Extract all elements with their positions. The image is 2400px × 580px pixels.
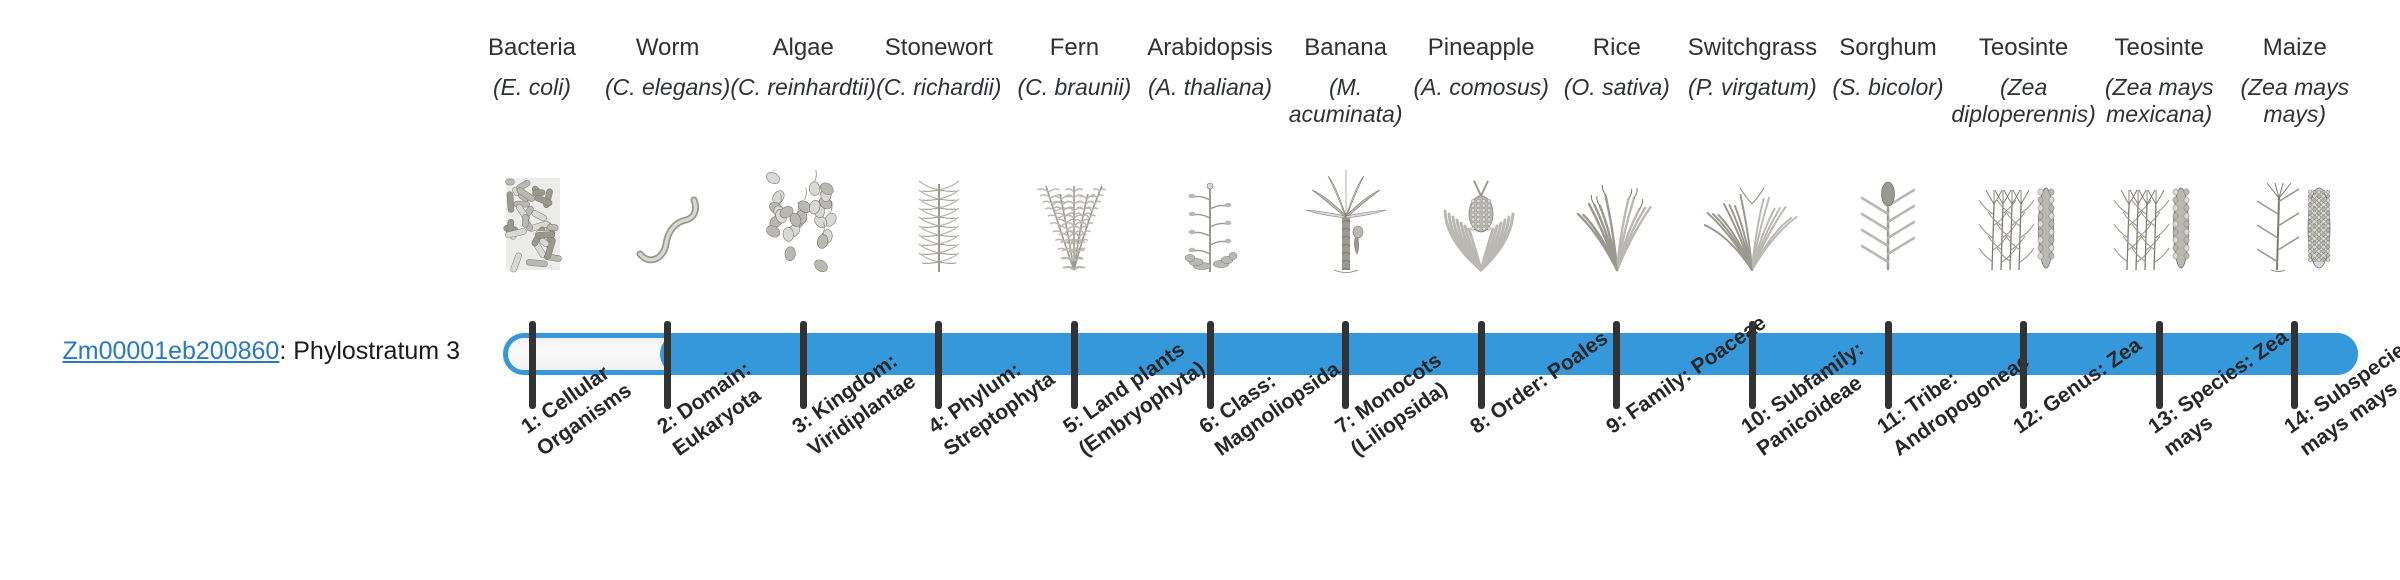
banana-tree-icon	[1281, 170, 1411, 275]
species-column-1: Bacteria(E. coli)	[457, 34, 607, 101]
species-common-name: Banana	[1271, 34, 1421, 62]
species-column-13: Teosinte(Zea mays mexicana)	[2084, 34, 2234, 128]
species-scientific-name: (M. acuminata)	[1271, 74, 1421, 128]
rice-plant-icon	[1552, 170, 1682, 275]
species-scientific-name: (C. reinhardtii)	[728, 74, 878, 101]
phylostratum-tick-8	[1478, 321, 1485, 409]
species-common-name: Pineapple	[1406, 34, 1556, 62]
species-common-name: Bacteria	[457, 34, 607, 62]
species-column-4: Stonewort(C. richardii)	[864, 34, 1014, 101]
species-column-2: Worm(C. elegans)	[593, 34, 743, 101]
species-column-14: Maize(Zea mays mays)	[2220, 34, 2370, 128]
gene-phylostratum-label: Zm00001eb200860: Phylostratum 3	[40, 336, 460, 366]
species-common-name: Maize	[2220, 34, 2370, 62]
species-column-8: Pineapple(A. comosus)	[1406, 34, 1556, 101]
species-scientific-name: (A. thaliana)	[1135, 74, 1285, 101]
phylostratigraphy-figure: Zm00001eb200860: Phylostratum 3 Bacteria…	[0, 0, 2400, 580]
species-column-3: Algae(C. reinhardtii)	[728, 34, 878, 101]
species-scientific-name: (O. sativa)	[1542, 74, 1692, 101]
species-scientific-name: (C. richardii)	[864, 74, 1014, 101]
gene-id-link[interactable]: Zm00001eb200860	[62, 337, 279, 365]
species-scientific-name: (S. bicolor)	[1813, 74, 1963, 101]
phylostratum-tick-13	[2156, 321, 2163, 409]
species-column-12: Teosinte(Zea diploperennis)	[1949, 34, 2099, 128]
species-column-7: Banana(M. acuminata)	[1271, 34, 1421, 128]
bacteria-rods-icon	[467, 170, 597, 275]
species-common-name: Worm	[593, 34, 743, 62]
phylostratum-tick-11	[1885, 321, 1892, 409]
species-scientific-name: (C. braunii)	[999, 74, 1149, 101]
fern-frond-icon	[1009, 170, 1139, 275]
sorghum-plant-icon	[1823, 170, 1953, 275]
species-common-name: Stonewort	[864, 34, 1014, 62]
phylostratum-tick-10	[1749, 321, 1756, 409]
species-scientific-name: (Zea mays mexicana)	[2084, 74, 2234, 128]
species-scientific-name: (Zea mays mays)	[2220, 74, 2370, 128]
species-common-name: Fern	[999, 34, 1149, 62]
phylostratum-tick-9	[1613, 321, 1620, 409]
pineapple-plant-icon	[1416, 170, 1546, 275]
phylostratum-tick-4	[935, 321, 942, 409]
species-common-name: Arabidopsis	[1135, 34, 1285, 62]
species-common-name: Sorghum	[1813, 34, 1963, 62]
stonewort-alga-icon	[874, 170, 1004, 275]
species-scientific-name: (A. comosus)	[1406, 74, 1556, 101]
species-common-name: Teosinte	[1949, 34, 2099, 62]
species-scientific-name: (E. coli)	[457, 74, 607, 101]
species-column-6: Arabidopsis(A. thaliana)	[1135, 34, 1285, 101]
phylostratum-tick-6	[1207, 321, 1214, 409]
nematode-worm-icon	[603, 170, 733, 275]
teosinte-plant-ear-icon	[2094, 170, 2224, 275]
species-column-10: Switchgrass(P. virgatum)	[1677, 34, 1827, 101]
phylostratum-tick-5	[1071, 321, 1078, 409]
phylostratum-tick-7	[1342, 321, 1349, 409]
teosinte-plant-ear-icon	[1959, 170, 2089, 275]
gene-id-separator: :	[279, 337, 293, 365]
phylostratum-value-text: Phylostratum 3	[293, 337, 460, 365]
species-column-11: Sorghum(S. bicolor)	[1813, 34, 1963, 101]
switchgrass-icon	[1687, 170, 1817, 275]
phylostratum-tick-3	[800, 321, 807, 409]
maize-plant-cob-icon	[2230, 170, 2360, 275]
species-scientific-name: (C. elegans)	[593, 74, 743, 101]
phylostratum-tick-14	[2291, 321, 2298, 409]
species-scientific-name: (Zea diploperennis)	[1949, 74, 2099, 128]
green-algae-cells-icon	[738, 170, 868, 275]
species-column-5: Fern(C. braunii)	[999, 34, 1149, 101]
phylostratum-tick-12	[2020, 321, 2027, 409]
species-scientific-name: (P. virgatum)	[1677, 74, 1827, 101]
arabidopsis-plant-icon	[1145, 170, 1275, 275]
species-common-name: Teosinte	[2084, 34, 2234, 62]
species-common-name: Switchgrass	[1677, 34, 1827, 62]
phylostratum-tick-2	[664, 321, 671, 409]
species-common-name: Algae	[728, 34, 878, 62]
species-common-name: Rice	[1542, 34, 1692, 62]
phylostratum-tick-1	[529, 321, 536, 409]
species-column-9: Rice(O. sativa)	[1542, 34, 1692, 101]
